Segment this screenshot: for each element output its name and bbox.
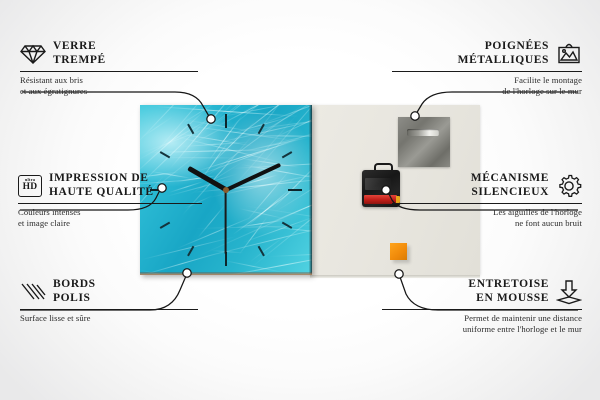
sub-line-2: de l'horloge sur le mur [392, 86, 582, 97]
callout-rule [392, 203, 582, 204]
title-line-2: MÉTALLIQUES [458, 54, 549, 68]
ultra-hd-icon: ultra HD [18, 175, 42, 197]
title-line-1: ENTRETOISE [468, 278, 549, 292]
callout-bords-polis: BORDS POLIS Surface lisse et sûre [20, 278, 198, 324]
title-line-1: VERRE [53, 40, 106, 54]
title-line-2: SILENCIEUX [471, 186, 549, 200]
foam-spacer-arrow-icon [556, 279, 582, 305]
callout-title: IMPRESSION DE HAUTE QUALITÉ [49, 172, 154, 199]
title-line-2: EN MOUSSE [468, 292, 549, 306]
callout-header: ENTRETOISE EN MOUSSE [382, 278, 582, 305]
callout-rule [382, 309, 582, 310]
hanger-slot [407, 129, 439, 136]
title-line-1: POIGNÉES [458, 40, 549, 54]
sub-line-1: Couleurs intenses [18, 207, 202, 218]
ultra-hd-main-text: HD [23, 183, 38, 193]
callout-subtitle: Surface lisse et sûre [20, 313, 198, 324]
clock-bottom-edge [140, 272, 312, 275]
callout-header: ultra HD IMPRESSION DE HAUTE QUALITÉ [18, 172, 202, 199]
callout-title: MÉCANISME SILENCIEUX [471, 172, 549, 199]
title-line-1: IMPRESSION DE [49, 172, 154, 186]
second-hand [225, 190, 227, 254]
callout-subtitle: Les aiguilles de l'horloge ne font aucun… [392, 207, 582, 230]
sub-line-2: et image claire [18, 218, 202, 229]
foam-spacer [390, 243, 407, 260]
callout-title: ENTRETOISE EN MOUSSE [468, 278, 549, 305]
callout-impression: ultra HD IMPRESSION DE HAUTE QUALITÉ Cou… [18, 172, 202, 230]
polished-edges-icon [20, 282, 46, 302]
callout-entretoise: ENTRETOISE EN MOUSSE Permet de maintenir… [382, 278, 582, 336]
sub-line-1: Permet de maintenir une distance [382, 313, 582, 324]
infographic-canvas: VERRE TREMPÉ Résistant aux bris et aux é… [0, 0, 600, 400]
callout-header: VERRE TREMPÉ [20, 40, 198, 67]
callout-subtitle: Couleurs intenses et image claire [18, 207, 202, 230]
clock-center-hub [223, 187, 229, 193]
feather-streak [165, 157, 241, 158]
mechanism-label [365, 178, 391, 190]
callout-title: VERRE TREMPÉ [53, 40, 106, 67]
diamond-icon [20, 43, 46, 65]
callout-subtitle: Résistant aux bris et aux égratignures [20, 75, 198, 98]
sub-line-2: uniforme entre l'horloge et le mur [382, 324, 582, 335]
feather-streak [269, 248, 312, 256]
sub-line-1: Résistant aux bris [20, 75, 198, 86]
clock-tick [225, 114, 227, 190]
callout-rule [20, 71, 198, 72]
callout-header: MÉCANISME SILENCIEUX [392, 172, 582, 199]
callout-header: POIGNÉES MÉTALLIQUES [392, 40, 582, 67]
title-line-1: BORDS [53, 278, 96, 292]
sub-line-2: ne font aucun bruit [392, 218, 582, 229]
metal-hanger-plate [398, 117, 450, 167]
clock-tick [226, 189, 302, 191]
title-line-1: MÉCANISME [471, 172, 549, 186]
callout-header: BORDS POLIS [20, 278, 198, 305]
callout-title: BORDS POLIS [53, 278, 96, 305]
title-line-2: HAUTE QUALITÉ [49, 186, 154, 200]
callout-rule [18, 203, 202, 204]
callout-mecanisme: MÉCANISME SILENCIEUX Les aiguilles de l'… [392, 172, 582, 230]
callout-poignees: POIGNÉES MÉTALLIQUES Facilite le montage… [392, 40, 582, 98]
feather-streak [272, 161, 312, 210]
callout-subtitle: Facilite le montage de l'horloge sur le … [392, 75, 582, 98]
sub-line-1: Facilite le montage [392, 75, 582, 86]
callout-title: POIGNÉES MÉTALLIQUES [458, 40, 549, 67]
clock-right-edge [309, 105, 312, 275]
sub-line-1: Les aiguilles de l'horloge [392, 207, 582, 218]
title-line-2: TREMPÉ [53, 54, 106, 68]
callout-rule [392, 71, 582, 72]
sub-line-1: Surface lisse et sûre [20, 313, 198, 324]
gear-icon [556, 173, 582, 199]
wall-mount-frame-icon [556, 42, 582, 66]
callout-subtitle: Permet de maintenir une distance uniform… [382, 313, 582, 336]
title-line-2: POLIS [53, 292, 96, 306]
callout-verre-trempe: VERRE TREMPÉ Résistant aux bris et aux é… [20, 40, 198, 98]
callout-rule [20, 309, 198, 310]
sub-line-2: et aux égratignures [20, 86, 198, 97]
